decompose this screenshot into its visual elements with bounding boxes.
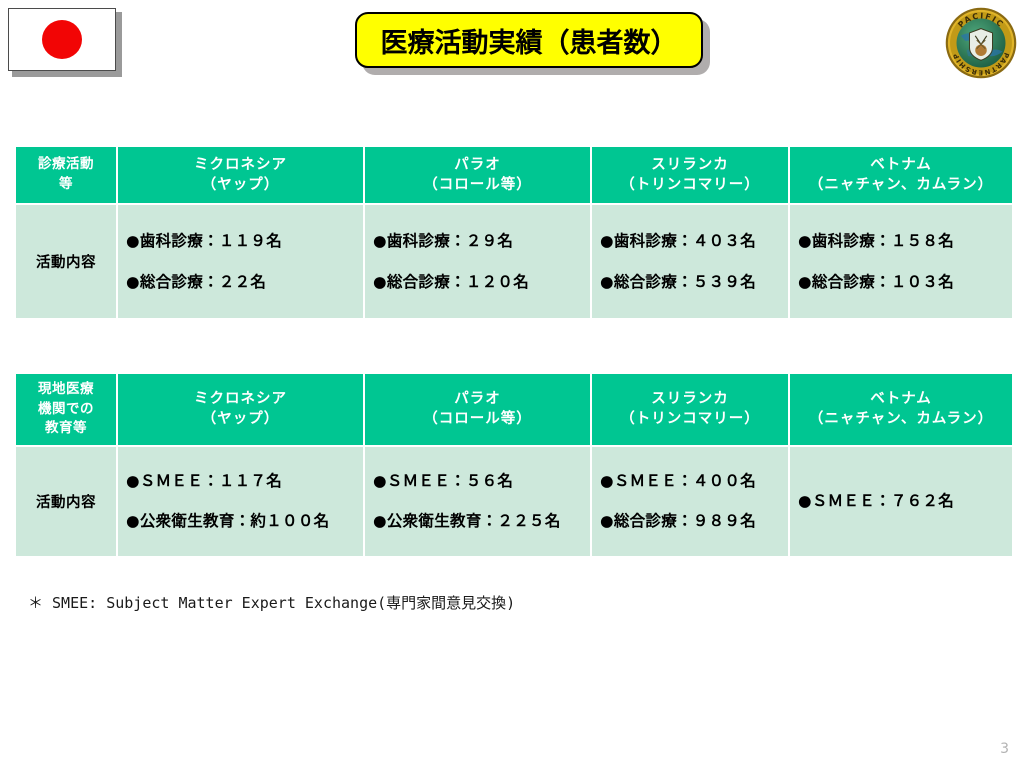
- bullet-item: ●歯科診療：１１９名: [126, 232, 361, 251]
- japan-flag-disc-icon: [42, 20, 82, 59]
- pacific-partnership-logo: PACIFIC PARTNERSHIP: [945, 7, 1017, 79]
- bullet-list: ●ＳＭＥＥ：１１７名●公衆衛生教育：約１００名: [124, 472, 361, 531]
- smee-footnote: ＊ SMEE: Subject Matter Expert Exchange(専…: [28, 592, 515, 613]
- table2-row-label: 活動内容: [16, 447, 116, 556]
- page-title: 医療活動実績（患者数）: [381, 21, 678, 60]
- slide-title-box: 医療活動実績（患者数）: [355, 12, 703, 68]
- bullet-item: ●総合診療：５３９名: [600, 273, 786, 292]
- bullet-item: ●歯科診療：２９名: [373, 232, 588, 251]
- table-row: 活動内容 ●歯科診療：１１９名●総合診療：２２名 ●歯科診療：２９名●総合診療：…: [16, 205, 1012, 318]
- table2-cell-vietnam: ●ＳＭＥＥ：７６２名: [790, 447, 1012, 556]
- bullet-list: ●ＳＭＥＥ：４００名●総合診療：９８９名: [598, 472, 786, 531]
- table1-cell-vietnam: ●歯科診療：１５８名●総合診療：１０３名: [790, 205, 1012, 318]
- table2-header-micronesia: ミクロネシア（ヤップ）: [118, 374, 363, 445]
- table1-header-srilanka: スリランカ（トリンコマリー）: [592, 147, 788, 203]
- table2-header-corner: 現地医療機関での教育等: [16, 374, 116, 445]
- bullet-item: ●ＳＭＥＥ：１１７名: [126, 472, 361, 491]
- table1-row-label: 活動内容: [16, 205, 116, 318]
- table1-cell-palau: ●歯科診療：２９名●総合診療：１２０名: [365, 205, 590, 318]
- table2-cell-palau: ●ＳＭＥＥ：５６名●公衆衛生教育：２２５名: [365, 447, 590, 556]
- table1-header-micronesia: ミクロネシア（ヤップ）: [118, 147, 363, 203]
- bullet-list: ●ＳＭＥＥ：５６名●公衆衛生教育：２２５名: [371, 472, 588, 531]
- slide-root: { "slide": { "title": "医療活動実績（患者数）", "pa…: [0, 0, 1024, 765]
- bullet-item: ●公衆衛生教育：約１００名: [126, 512, 361, 531]
- bullet-list: ●ＳＭＥＥ：７６２名: [796, 492, 1010, 511]
- bullet-item: ●ＳＭＥＥ：７６２名: [798, 492, 1010, 511]
- japan-flag: [8, 8, 118, 73]
- bullet-list: ●歯科診療：４０３名●総合診療：５３９名: [598, 232, 786, 291]
- bullet-item: ●総合診療：２２名: [126, 273, 361, 292]
- bullet-item: ●ＳＭＥＥ：５６名: [373, 472, 588, 491]
- table2-cell-srilanka: ●ＳＭＥＥ：４００名●総合診療：９８９名: [592, 447, 788, 556]
- japan-flag-field: [8, 8, 116, 71]
- slide-title-banner: 医療活動実績（患者数）: [355, 12, 703, 68]
- bullet-list: ●歯科診療：１５８名●総合診療：１０３名: [796, 232, 1010, 291]
- bullet-item: ●歯科診療：１５８名: [798, 232, 1010, 251]
- table2-header-srilanka: スリランカ（トリンコマリー）: [592, 374, 788, 445]
- bullet-item: ●総合診療：１２０名: [373, 273, 588, 292]
- bullet-item: ●ＳＭＥＥ：４００名: [600, 472, 786, 491]
- table1-header-corner: 診療活動等: [16, 147, 116, 203]
- table-row: 活動内容 ●ＳＭＥＥ：１１７名●公衆衛生教育：約１００名 ●ＳＭＥＥ：５６名●公…: [16, 447, 1012, 556]
- bullet-list: ●歯科診療：２９名●総合診療：１２０名: [371, 232, 588, 291]
- bullet-item: ●総合診療：１０３名: [798, 273, 1010, 292]
- page-number: 3: [1000, 741, 1009, 757]
- bullet-item: ●歯科診療：４０３名: [600, 232, 786, 251]
- bullet-item: ●公衆衛生教育：２２５名: [373, 512, 588, 531]
- table1-header-vietnam: ベトナム（ニャチャン、カムラン）: [790, 147, 1012, 203]
- table1-header-palau: パラオ（コロール等）: [365, 147, 590, 203]
- table2-header-palau: パラオ（コロール等）: [365, 374, 590, 445]
- bullet-item: ●総合診療：９８９名: [600, 512, 786, 531]
- table1-cell-srilanka: ●歯科診療：４０３名●総合診療：５３９名: [592, 205, 788, 318]
- table-header-row: 診療活動等 ミクロネシア（ヤップ） パラオ（コロール等） スリランカ（トリンコマ…: [16, 147, 1012, 203]
- medical-activity-table: 診療活動等 ミクロネシア（ヤップ） パラオ（コロール等） スリランカ（トリンコマ…: [14, 145, 1014, 320]
- bullet-list: ●歯科診療：１１９名●総合診療：２２名: [124, 232, 361, 291]
- table-header-row: 現地医療機関での教育等 ミクロネシア（ヤップ） パラオ（コロール等） スリランカ…: [16, 374, 1012, 445]
- table2-cell-micronesia: ●ＳＭＥＥ：１１７名●公衆衛生教育：約１００名: [118, 447, 363, 556]
- table1-cell-micronesia: ●歯科診療：１１９名●総合診療：２２名: [118, 205, 363, 318]
- local-medical-education-table: 現地医療機関での教育等 ミクロネシア（ヤップ） パラオ（コロール等） スリランカ…: [14, 372, 1014, 558]
- table2-header-vietnam: ベトナム（ニャチャン、カムラン）: [790, 374, 1012, 445]
